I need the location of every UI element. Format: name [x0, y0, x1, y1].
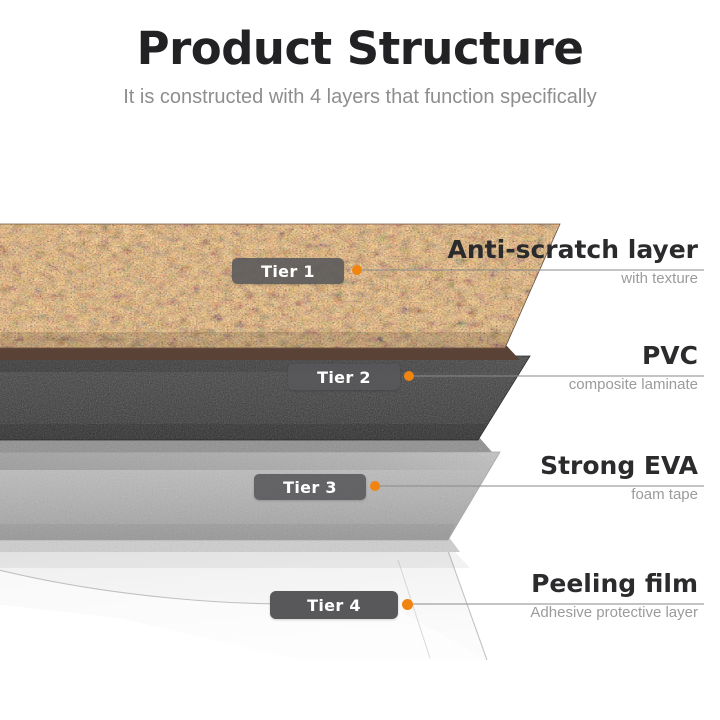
callout-tier-2-subtitle: composite laminate [398, 375, 698, 395]
callout-tier-3-title-text: Strong EVA [540, 451, 698, 480]
callout-tier-4: Peeling film Adhesive protective layer [398, 570, 698, 623]
callout-tier-3-subtitle: foam tape [398, 485, 698, 505]
callout-tier-3: Strong EVA foam tape [398, 452, 698, 505]
callout-tier-2-title-text: PVC [642, 341, 698, 370]
tier-badge-4-label: Tier 4 [307, 596, 361, 615]
tier-badge-2[interactable]: Tier 2 [288, 364, 400, 390]
tier-badge-1-label: Tier 1 [261, 262, 315, 281]
connector-dot-tier-1 [352, 265, 362, 275]
callout-tier-1-subtitle: with texture [398, 269, 698, 289]
tier-badge-2-label: Tier 2 [317, 368, 371, 387]
callout-tier-1-title-text: Anti-scratch layer [448, 235, 698, 264]
callout-tier-1: Anti-scratch layer with texture [398, 236, 698, 289]
callout-tier-2: PVC composite laminate [398, 342, 698, 395]
callout-tier-4-subtitle: Adhesive protective layer [398, 603, 698, 623]
tier-badge-4[interactable]: Tier 4 [270, 591, 398, 619]
tier-badge-1[interactable]: Tier 1 [232, 258, 344, 284]
infographic-canvas: Product Structure It is constructed with… [0, 0, 720, 720]
tier-badge-3-label: Tier 3 [283, 478, 337, 497]
tier-badge-3[interactable]: Tier 3 [254, 474, 366, 500]
callout-tier-4-title-text: Peeling film [531, 569, 698, 598]
connector-dot-tier-3 [370, 481, 380, 491]
callout-tier-2-title: PVC [642, 342, 698, 370]
callout-tier-3-title: Strong EVA [540, 452, 698, 480]
callout-tier-1-title: Anti-scratch layer [448, 236, 698, 264]
callout-tier-4-title: Peeling film [531, 570, 698, 598]
